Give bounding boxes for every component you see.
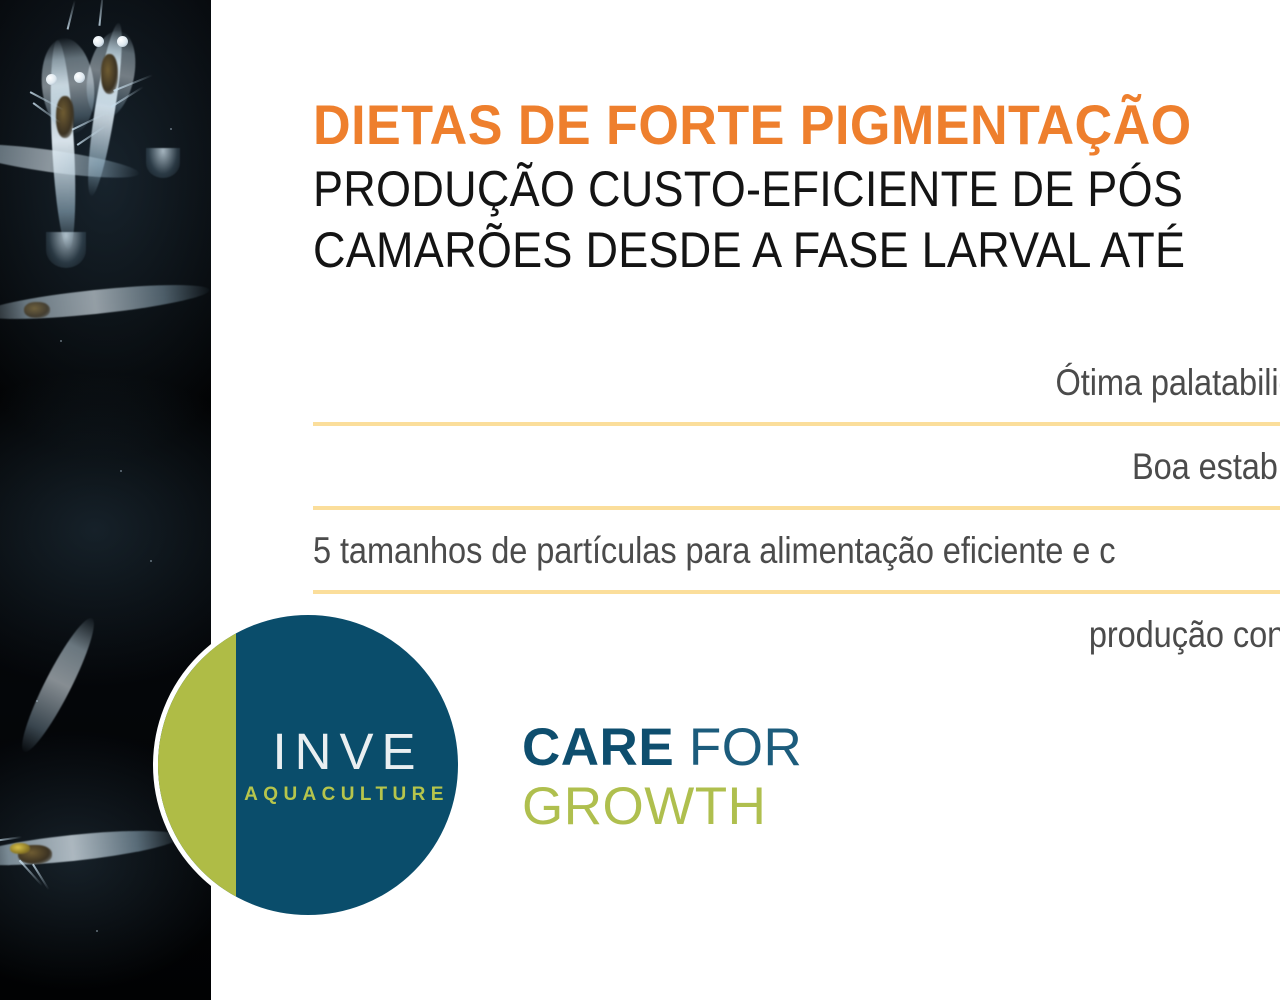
feature-item: Ótima palatabilidade, atrat xyxy=(313,342,1280,422)
slide-canvas: DIETAS DE FORTE PIGMENTAÇÃO PRODUÇÃO CUS… xyxy=(0,0,1280,1000)
photo-particle xyxy=(150,560,152,562)
shrimp-tail-fan xyxy=(46,232,86,268)
photo-particle xyxy=(96,930,98,932)
tagline-care: CARE xyxy=(522,718,674,777)
shrimp-eye xyxy=(46,74,57,85)
photo-particle xyxy=(36,700,38,702)
photo-particle xyxy=(60,340,62,342)
inve-logo: INVE AQUACULTURE xyxy=(153,610,483,920)
feature-text: 5 tamanhos de partículas para alimentaçã… xyxy=(313,532,1115,569)
feature-item: 5 tamanhos de partículas para alimentaçã… xyxy=(313,510,1280,590)
shrimp-gut xyxy=(24,302,50,318)
shrimp-gut xyxy=(56,96,74,138)
tagline-for: FOR xyxy=(689,718,802,777)
shrimp-tail-fan xyxy=(146,148,180,178)
tagline-line-2: GROWTH xyxy=(522,777,802,836)
tagline-block: CARE FOR GROWTH xyxy=(522,718,802,837)
shrimp-eye xyxy=(93,36,104,47)
photo-particle xyxy=(120,470,122,472)
logo-text-group: INVE AQUACULTURE xyxy=(236,615,458,915)
slide-subtitle-line-1: PRODUÇÃO CUSTO-EFICIENTE DE PÓS xyxy=(313,159,1280,220)
tagline-line-1: CARE FOR xyxy=(522,718,802,777)
feature-text: produção confiável de p xyxy=(1089,616,1280,653)
slide-title: DIETAS DE FORTE PIGMENTAÇÃO xyxy=(313,96,1280,153)
shrimp-eye xyxy=(117,36,128,47)
feature-text: Ótima palatabilidade, atrat xyxy=(1055,364,1280,401)
photo-particle xyxy=(170,128,172,130)
logo-brand-name: INVE xyxy=(264,726,423,777)
headline-block: DIETAS DE FORTE PIGMENTAÇÃO PRODUÇÃO CUS… xyxy=(313,96,1280,281)
feature-text: Boa estabilidade das xyxy=(1132,448,1280,485)
logo-sub-brand: AQUACULTURE xyxy=(239,785,449,804)
slide-subtitle-line-2: CAMARÕES DESDE A FASE LARVAL ATÉ xyxy=(313,220,1280,281)
logo-circle: INVE AQUACULTURE xyxy=(153,610,463,920)
feature-item: Boa estabilidade das xyxy=(313,426,1280,506)
logo-green-crescent xyxy=(158,615,236,915)
tagline-growth: GROWTH xyxy=(522,777,766,836)
shrimp-gut-pigment xyxy=(10,843,30,854)
shrimp-eye xyxy=(74,72,85,83)
